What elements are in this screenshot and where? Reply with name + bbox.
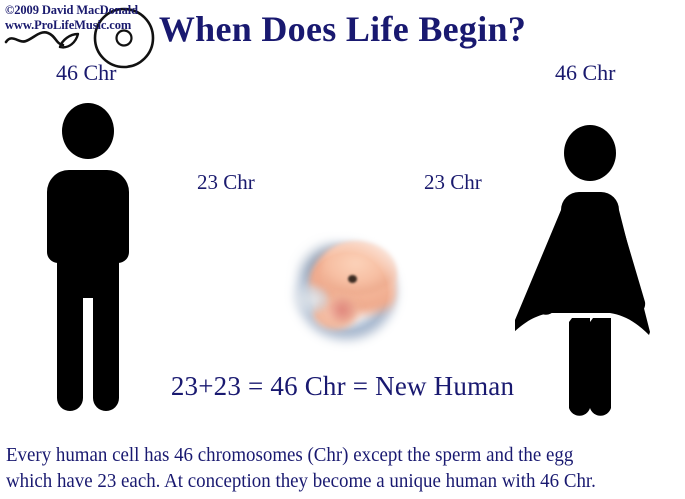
poster-canvas: ©2009 David MacDonald www.ProLifeMusic.c… bbox=[0, 0, 685, 499]
equation-text: 23+23 = 46 Chr = New Human bbox=[0, 371, 685, 402]
male-figure-icon bbox=[30, 100, 170, 415]
embryo-head bbox=[322, 241, 396, 297]
embryo-eye bbox=[348, 275, 357, 283]
female-chromosome-label: 46 Chr bbox=[555, 60, 616, 86]
sperm-chromosome-label: 23 Chr bbox=[197, 170, 255, 195]
embryo-arm bbox=[287, 285, 328, 314]
embryo-photo bbox=[284, 231, 412, 353]
egg-chromosome-label: 23 Chr bbox=[424, 170, 482, 195]
embryo-blush bbox=[328, 298, 356, 322]
caption-text: Every human cell has 46 chromosomes (Chr… bbox=[6, 443, 662, 496]
male-chromosome-label: 46 Chr bbox=[56, 60, 117, 86]
page-title: When Does Life Begin? bbox=[0, 8, 685, 50]
caption-line-1: Every human cell has 46 chromosomes (Chr… bbox=[6, 443, 662, 469]
caption-line-2: which have 23 each. At conception they b… bbox=[6, 469, 662, 495]
